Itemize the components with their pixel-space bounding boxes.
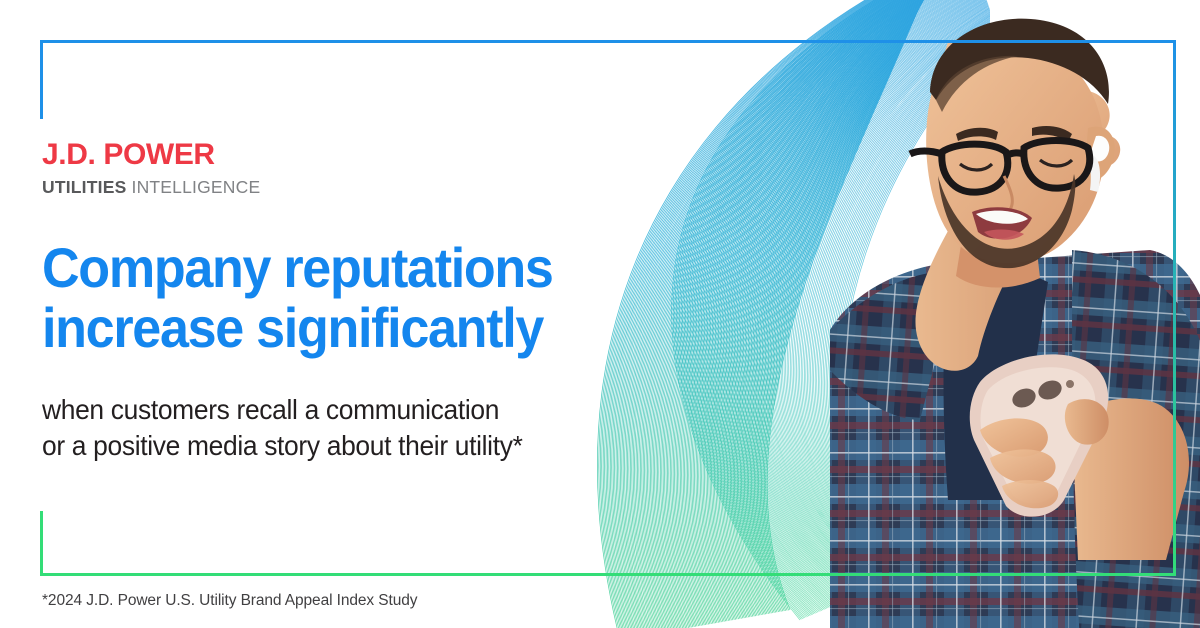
logo-division-light: INTELLIGENCE [126, 177, 260, 197]
logo-division: UTILITIES INTELLIGENCE [42, 179, 260, 197]
headline-line-1: Company reputations [42, 238, 637, 298]
subheadline-line-1: when customers recall a communication [42, 392, 676, 428]
subheadline-line-2: or a positive media story about their ut… [42, 428, 676, 464]
subheadline: when customers recall a communication or… [42, 392, 676, 465]
photo-man-with-phone [680, 0, 1200, 628]
frame-line-bottom [40, 573, 1176, 576]
frame-line-right [1173, 40, 1176, 576]
marketing-banner: J.D. POWER UTILITIES INTELLIGENCE Compan… [0, 0, 1200, 628]
frame-line-top [40, 40, 1176, 43]
footnote-source: *2024 J.D. Power U.S. Utility Brand Appe… [42, 592, 417, 610]
logo-division-bold: UTILITIES [42, 177, 126, 197]
headline-line-2: increase significantly [42, 298, 637, 358]
frame-line-left-top [40, 40, 43, 119]
jd-power-logo: J.D. POWER UTILITIES INTELLIGENCE [42, 140, 260, 197]
frame-line-left-bottom [40, 511, 43, 576]
logo-wordmark: J.D. POWER [42, 140, 260, 170]
headline: Company reputations increase significant… [42, 238, 637, 359]
